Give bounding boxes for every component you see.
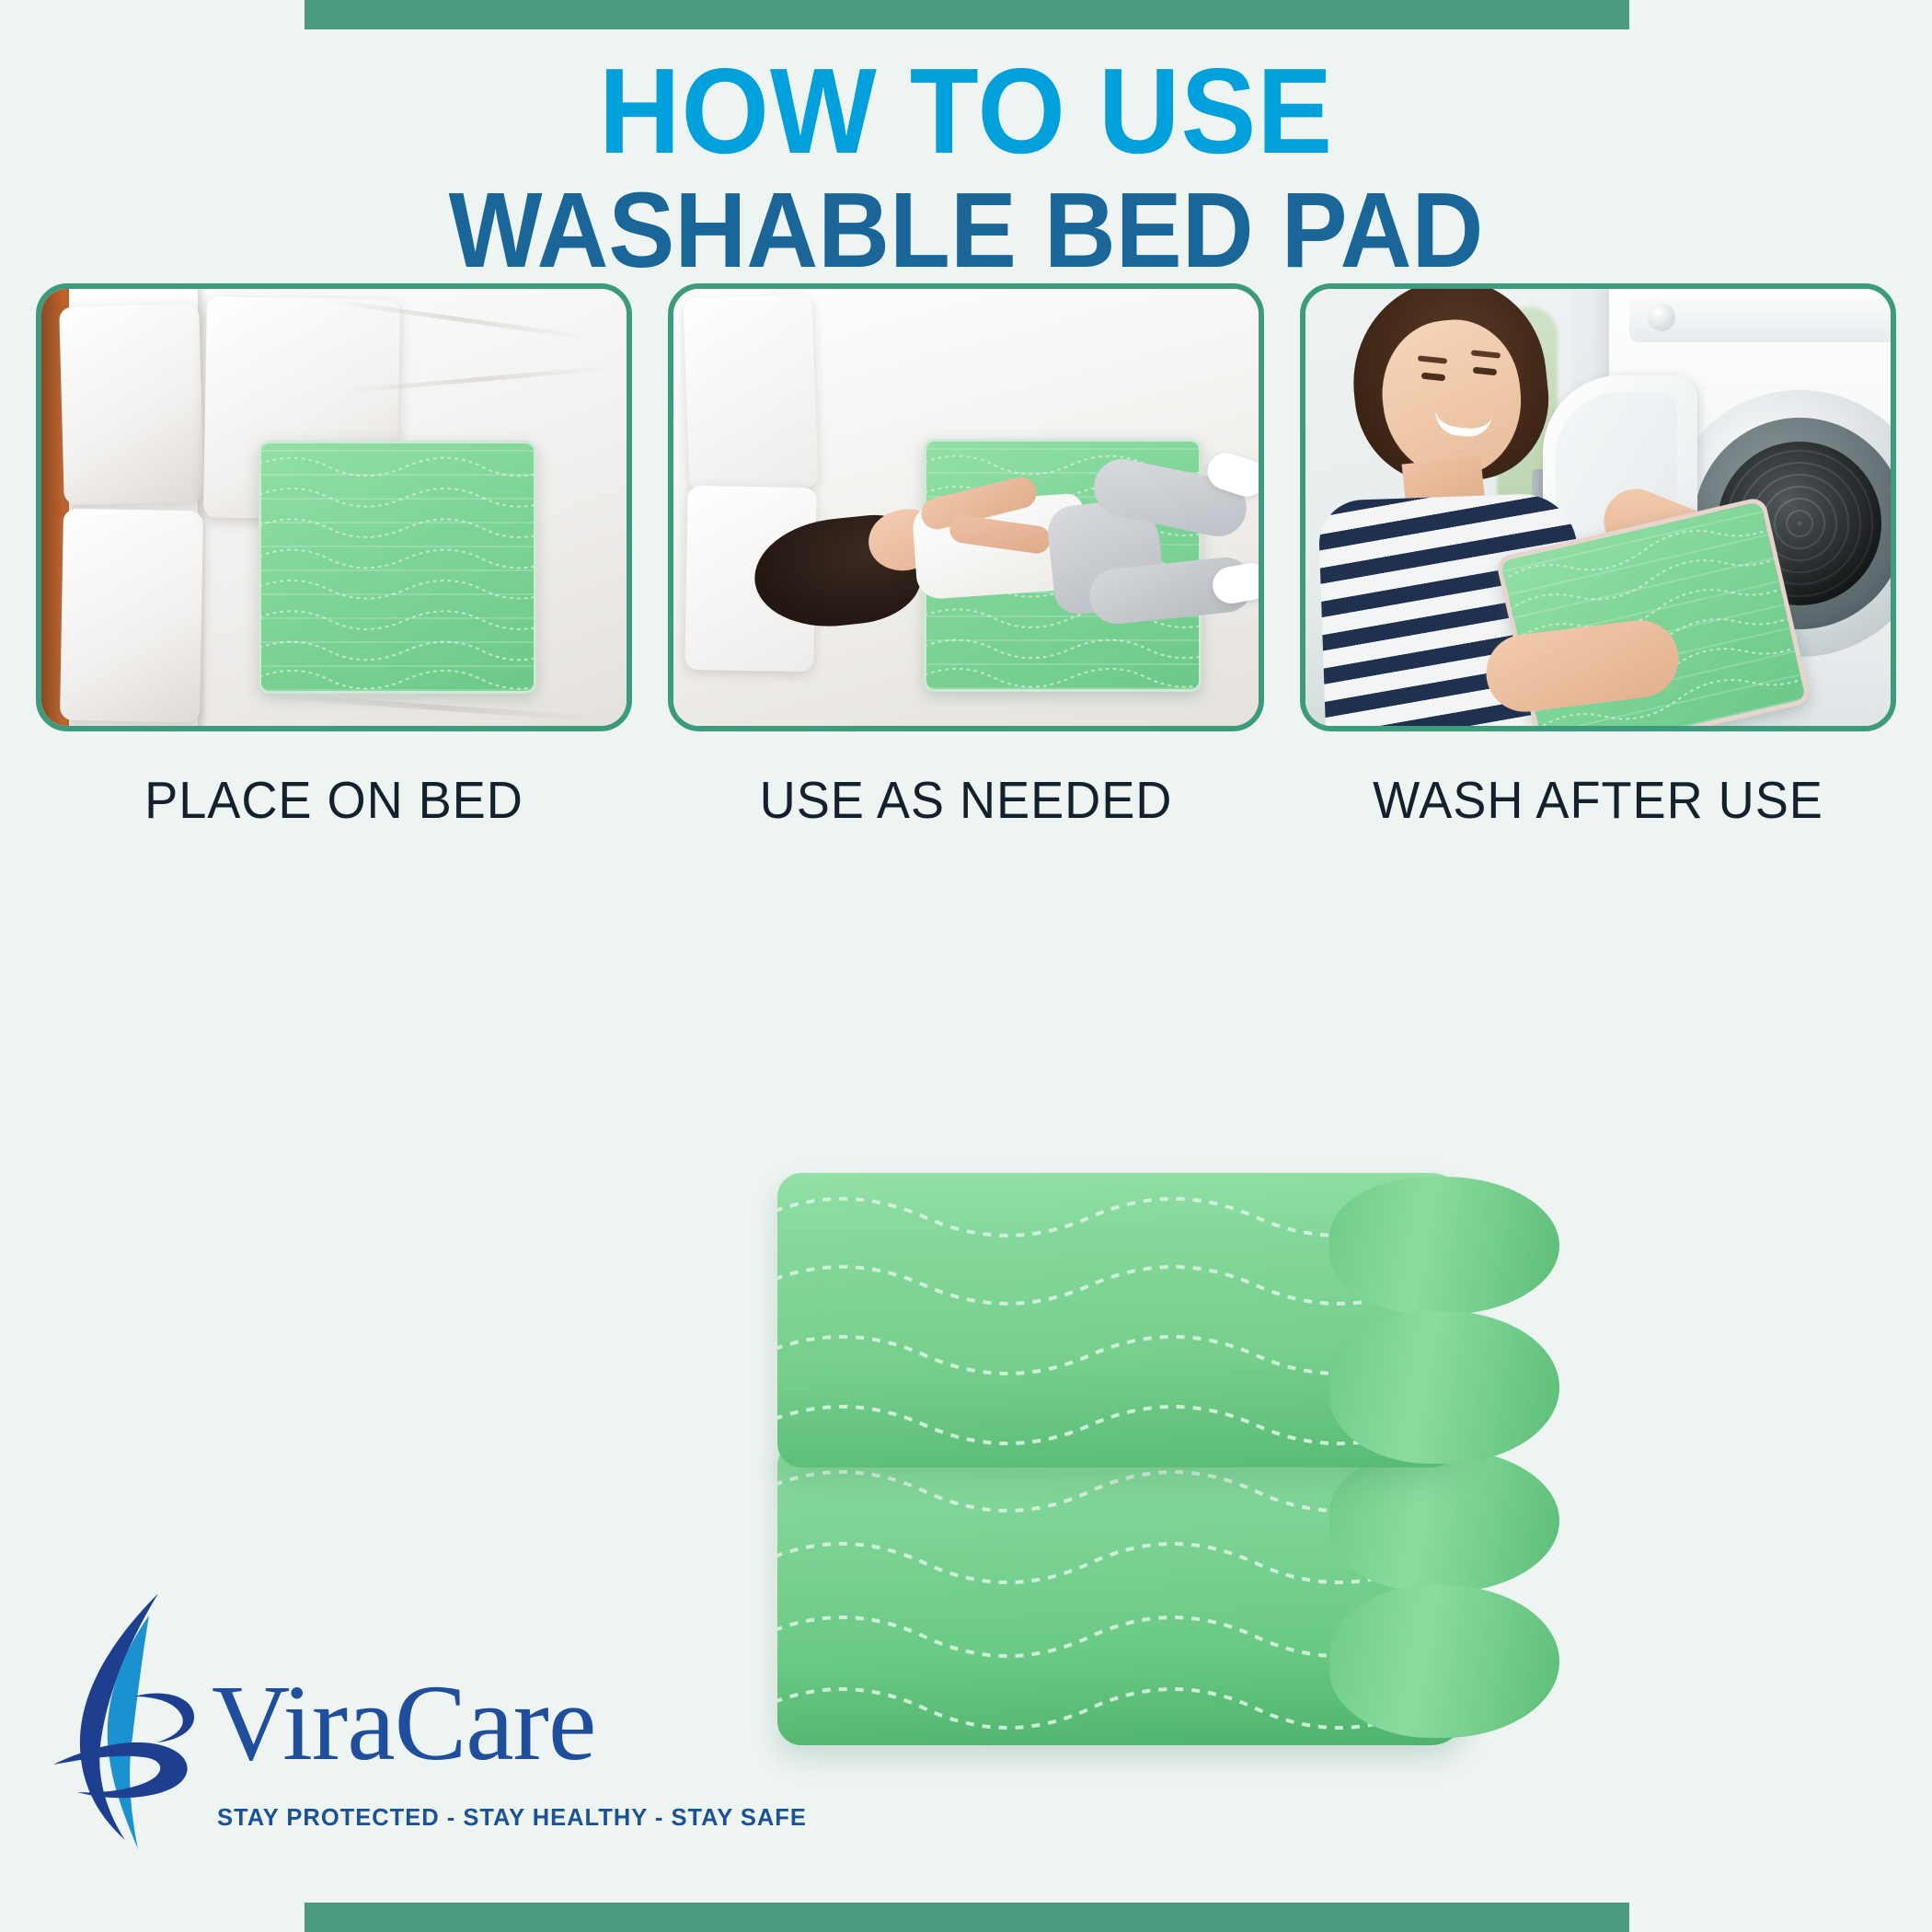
step-wash-after-use: WASH AFTER USE	[1300, 283, 1896, 831]
bed-with-green-pad-photo	[41, 289, 627, 726]
title-line-primary: HOW TO USE	[68, 53, 1865, 170]
pad-roll-end	[1329, 1311, 1559, 1464]
title-line-secondary: WASHABLE BED PAD	[68, 176, 1865, 284]
step-3-image-card	[1300, 283, 1896, 731]
step-1-caption: PLACE ON BED	[51, 770, 617, 831]
woman-loading-washing-machine-photo	[1305, 289, 1891, 726]
pillow	[60, 509, 203, 723]
pillow	[683, 294, 818, 492]
brand-tagline: STAY PROTECTED - STAY HEALTHY - STAY SAF…	[217, 1805, 807, 1832]
bottom-accent-bar	[305, 1903, 1629, 1932]
folded-washable-bed-pad	[777, 1173, 1647, 1872]
quilt-wave-pattern	[261, 443, 534, 692]
how-to-steps: PLACE ON BED	[0, 283, 1932, 831]
washing-machine-dial	[1648, 304, 1675, 331]
viracare-swoosh-icon	[53, 1584, 215, 1860]
pad-roll-end	[1329, 1585, 1559, 1738]
step-3-caption: WASH AFTER USE	[1315, 770, 1881, 831]
woman-lying-on-pad-photo	[673, 289, 1259, 726]
brand-wordmark: ViraCare	[212, 1669, 595, 1777]
page-title: HOW TO USE WASHABLE BED PAD	[0, 53, 1932, 284]
pad-roll-end	[1329, 1177, 1559, 1315]
brand-logo: ViraCare STAY PROTECTED - STAY HEALTHY -…	[53, 1584, 624, 1860]
pad-roll-end	[1329, 1449, 1559, 1593]
pillow	[59, 304, 204, 505]
top-accent-bar	[305, 0, 1629, 29]
green-bed-pad	[259, 441, 536, 694]
step-1-image-card	[36, 283, 632, 731]
step-2-image-card	[668, 283, 1264, 731]
step-use-as-needed: USE AS NEEDED	[668, 283, 1264, 831]
step-place-on-bed: PLACE ON BED	[36, 283, 632, 831]
step-2-caption: USE AS NEEDED	[683, 770, 1249, 831]
